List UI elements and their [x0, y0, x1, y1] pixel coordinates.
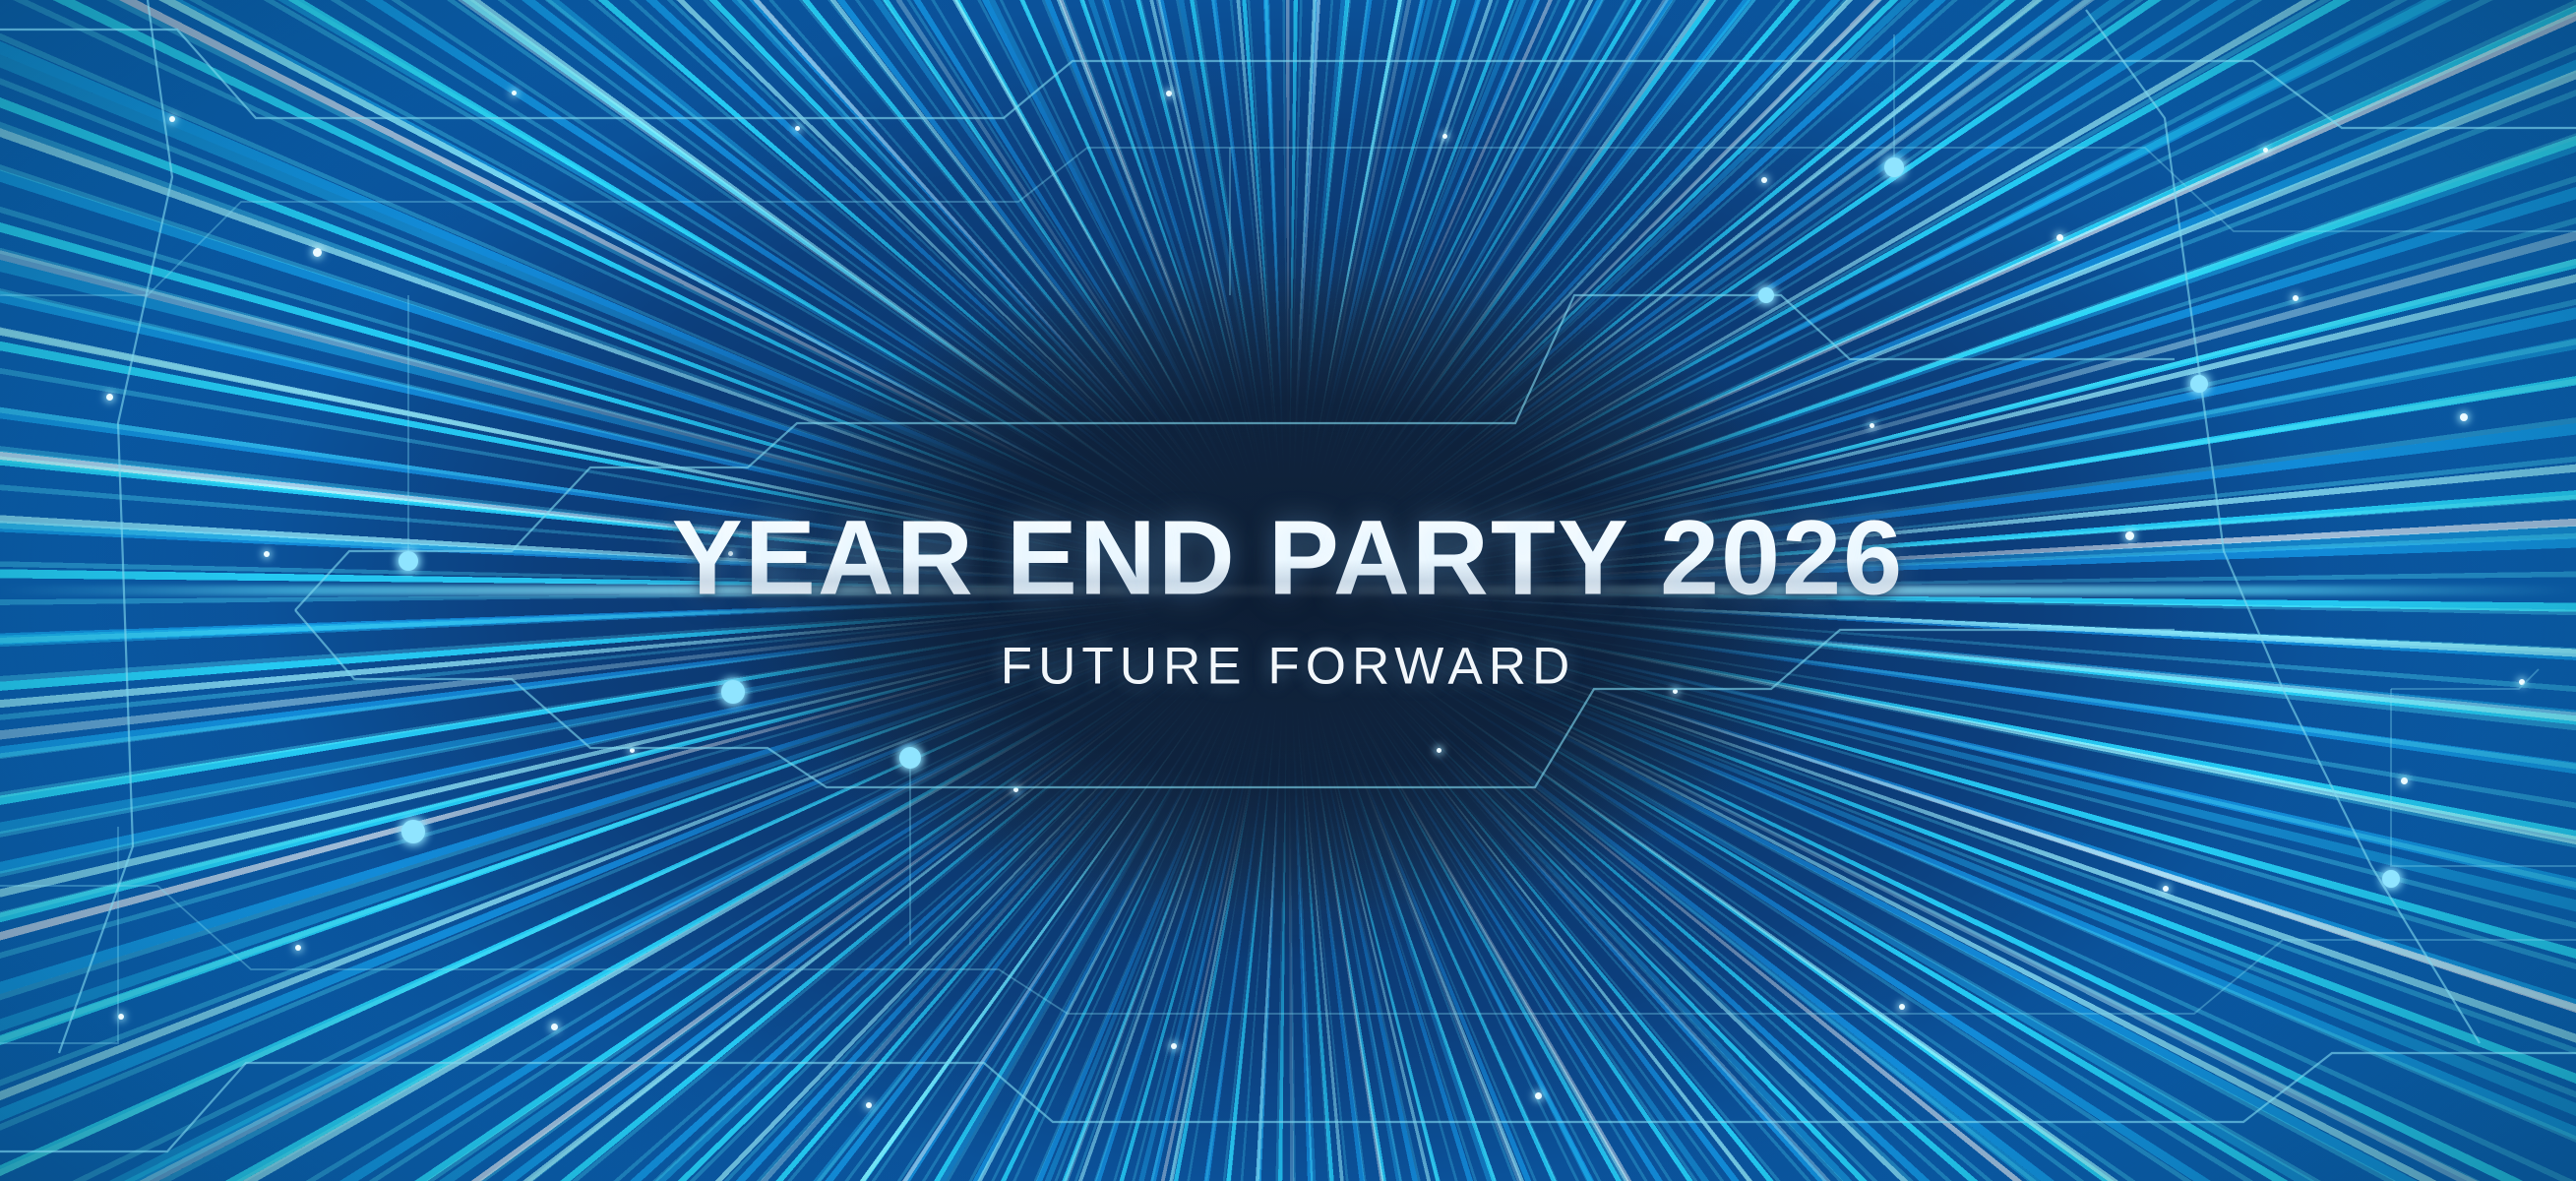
right-connector-c	[2391, 669, 2539, 689]
page-title: YEAR END PARTY 2026	[501, 505, 2075, 611]
circuit-node	[1884, 157, 1904, 177]
outer-hex-top	[0, 30, 2576, 128]
banner-text-block: YEAR END PARTY 2026 FUTURE FORWARD	[501, 505, 2075, 697]
year-end-party-banner: YEAR END PARTY 2026 FUTURE FORWARD	[0, 0, 2576, 1181]
right-connector-a	[2086, 10, 2480, 1043]
circuit-node	[2382, 870, 2400, 888]
outer-hex-bottom	[0, 1053, 2576, 1151]
mid-band-top	[0, 148, 2576, 295]
page-subtitle: FUTURE FORWARD	[501, 637, 2075, 697]
right-connector-b	[2391, 689, 2576, 866]
left-connector-a	[59, 0, 172, 1053]
circuit-node	[1758, 287, 1774, 303]
circuit-node	[2190, 375, 2208, 393]
mid-band-bottom	[0, 886, 2576, 1014]
circuit-node	[401, 820, 425, 843]
circuit-node	[399, 551, 418, 571]
circuit-node	[899, 747, 921, 769]
